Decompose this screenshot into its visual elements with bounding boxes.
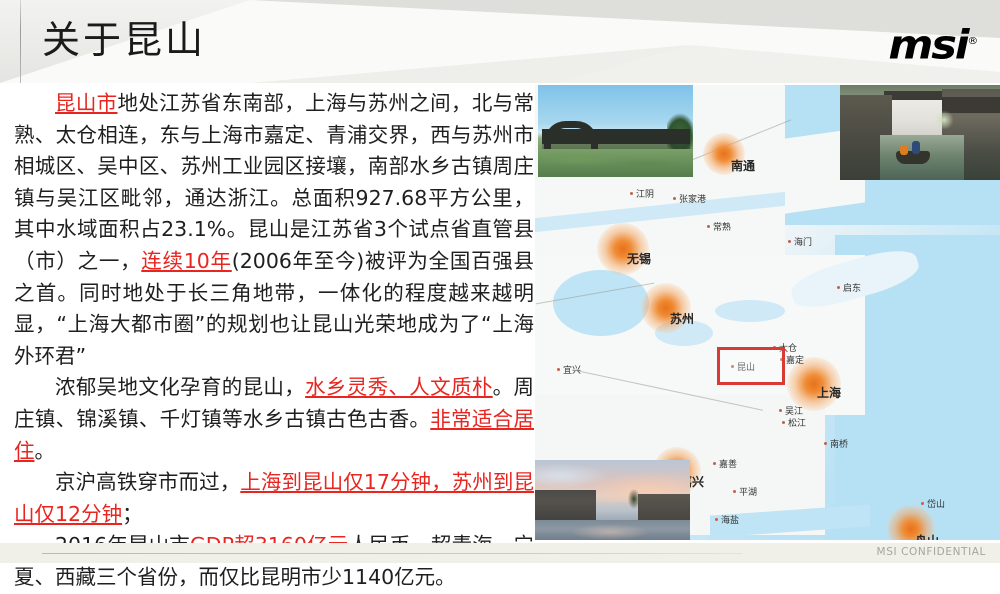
map-city-name: 常熟 (713, 223, 731, 233)
body-text: 浓郁吴地文化孕育的昆山， (55, 375, 305, 399)
map-city-dot-icon (630, 192, 633, 195)
map-city-name: 南桥 (830, 440, 848, 450)
map-city-dot-icon (837, 286, 840, 289)
map-city-name: 江阴 (636, 190, 654, 200)
photo-canal-boat (840, 85, 1000, 180)
registered-trademark-icon: ® (967, 36, 978, 47)
map-taihu-lake (553, 270, 649, 336)
map-city-name: 启东 (843, 284, 861, 294)
map-city-dot-icon (733, 490, 736, 493)
photo-ancient-bridge (538, 85, 693, 177)
map-city-dot-icon (715, 518, 718, 521)
footer-divider (42, 553, 742, 554)
map-city-name: 舟山 (915, 534, 939, 540)
map-city-name: 岱山 (927, 500, 945, 510)
map-city-label-张家港: 张家港 (673, 192, 706, 205)
photo-canal-passenger (900, 145, 908, 155)
map-city-dot-icon (557, 368, 560, 371)
map-city-label-平湖: 平湖 (733, 485, 757, 498)
map-city-name: 无锡 (627, 252, 651, 266)
paragraph-p1: 昆山市地处江苏省东南部，上海与苏州之间，北与常熟、太仓相连，东与上海市嘉定、青浦… (14, 88, 534, 372)
map-city-label-宜兴: 宜兴 (557, 363, 581, 376)
map-city-name: 平湖 (739, 488, 757, 498)
map-glow-wuxi (597, 223, 649, 275)
map-city-label-江阴: 江阴 (630, 187, 654, 200)
map-city-label-苏州: 苏州 (670, 310, 694, 327)
confidential-label: MSI CONFIDENTIAL (877, 546, 986, 558)
map-city-label-岱山: 岱山 (921, 497, 945, 510)
photo-canal-foliage (934, 111, 954, 129)
map-city-label-嘉善: 嘉善 (713, 457, 737, 470)
map-and-photos-panel: 南通江阴张家港常熟海门启东无锡太仓嘉定昆山上海宜兴苏州吴江松江南桥嘉善嘉兴平湖海… (535, 85, 1000, 540)
paragraph-p3: 京沪高铁穿市而过，上海到昆山仅17分钟，苏州到昆山仅12分钟； (14, 467, 534, 530)
map-city-dot-icon (707, 225, 710, 228)
map-city-label-启东: 启东 (837, 281, 861, 294)
body-text: ； (122, 502, 143, 526)
highlighted-text: 连续10年 (141, 249, 231, 273)
map-city-label-海盐: 海盐 (715, 513, 739, 526)
map-city-dot-icon (788, 240, 791, 243)
map-city-dot-icon (782, 421, 785, 424)
photo-canal-boatman (912, 141, 920, 154)
map-city-name: 南通 (731, 159, 755, 173)
page-title: 关于昆山 (42, 15, 206, 65)
header-accent-line (20, 0, 21, 83)
kunshan-highlight-box (717, 347, 785, 385)
body-text: 京沪高铁穿市而过， (55, 470, 240, 494)
highlighted-text: 水乡灵秀、人文质朴 (305, 375, 493, 399)
map-city-name: 海盐 (721, 516, 739, 526)
slide-footer: MSI CONFIDENTIAL (0, 543, 1000, 563)
map-city-label-海门: 海门 (788, 235, 812, 248)
map-city-dot-icon (824, 442, 827, 445)
msi-logo-text: msi (888, 22, 967, 68)
map-city-label-舟山: 舟山 (915, 532, 939, 540)
map-city-dot-icon (921, 502, 924, 505)
map-city-label-常熟: 常熟 (707, 220, 731, 233)
map-city-label-松江: 松江 (782, 416, 806, 429)
map-city-name: 宜兴 (563, 366, 581, 376)
photo-water-town-dusk (535, 460, 690, 540)
map-city-label-无锡: 无锡 (627, 250, 651, 267)
paragraph-p2: 浓郁吴地文化孕育的昆山，水乡灵秀、人文质朴。周庄镇、锦溪镇、千灯镇等水乡古镇古色… (14, 372, 534, 467)
body-text: 地处江苏省东南部，上海与苏州之间，北与常熟、太仓相连，东与上海市嘉定、青浦交界，… (14, 91, 534, 273)
map-city-label-上海: 上海 (817, 384, 841, 401)
map-city-name: 嘉定 (786, 356, 804, 366)
map-city-label-南通: 南通 (731, 157, 755, 174)
body-text-column: 昆山市地处江苏省东南部，上海与苏州之间，北与常熟、太仓相连，东与上海市嘉定、青浦… (14, 88, 534, 594)
msi-logo: msi® (888, 22, 978, 65)
highlighted-text: 昆山市 (55, 91, 118, 115)
photo-town-reflection (540, 522, 660, 540)
map-city-name: 张家港 (679, 195, 706, 205)
slide-header: 关于昆山 msi® (0, 0, 1000, 83)
map-city-name: 松江 (788, 419, 806, 429)
map-lake-dianshan (715, 300, 785, 322)
map-city-name: 海门 (794, 238, 812, 248)
map-city-name: 苏州 (670, 312, 694, 326)
body-text: 。 (35, 439, 56, 463)
photo-water-weeds (538, 149, 693, 177)
map-city-dot-icon (779, 409, 782, 412)
map-city-name: 上海 (817, 386, 841, 400)
map-city-dot-icon (713, 462, 716, 465)
map-city-label-南桥: 南桥 (824, 437, 848, 450)
map-city-name: 嘉善 (719, 460, 737, 470)
map-city-dot-icon (673, 197, 676, 200)
